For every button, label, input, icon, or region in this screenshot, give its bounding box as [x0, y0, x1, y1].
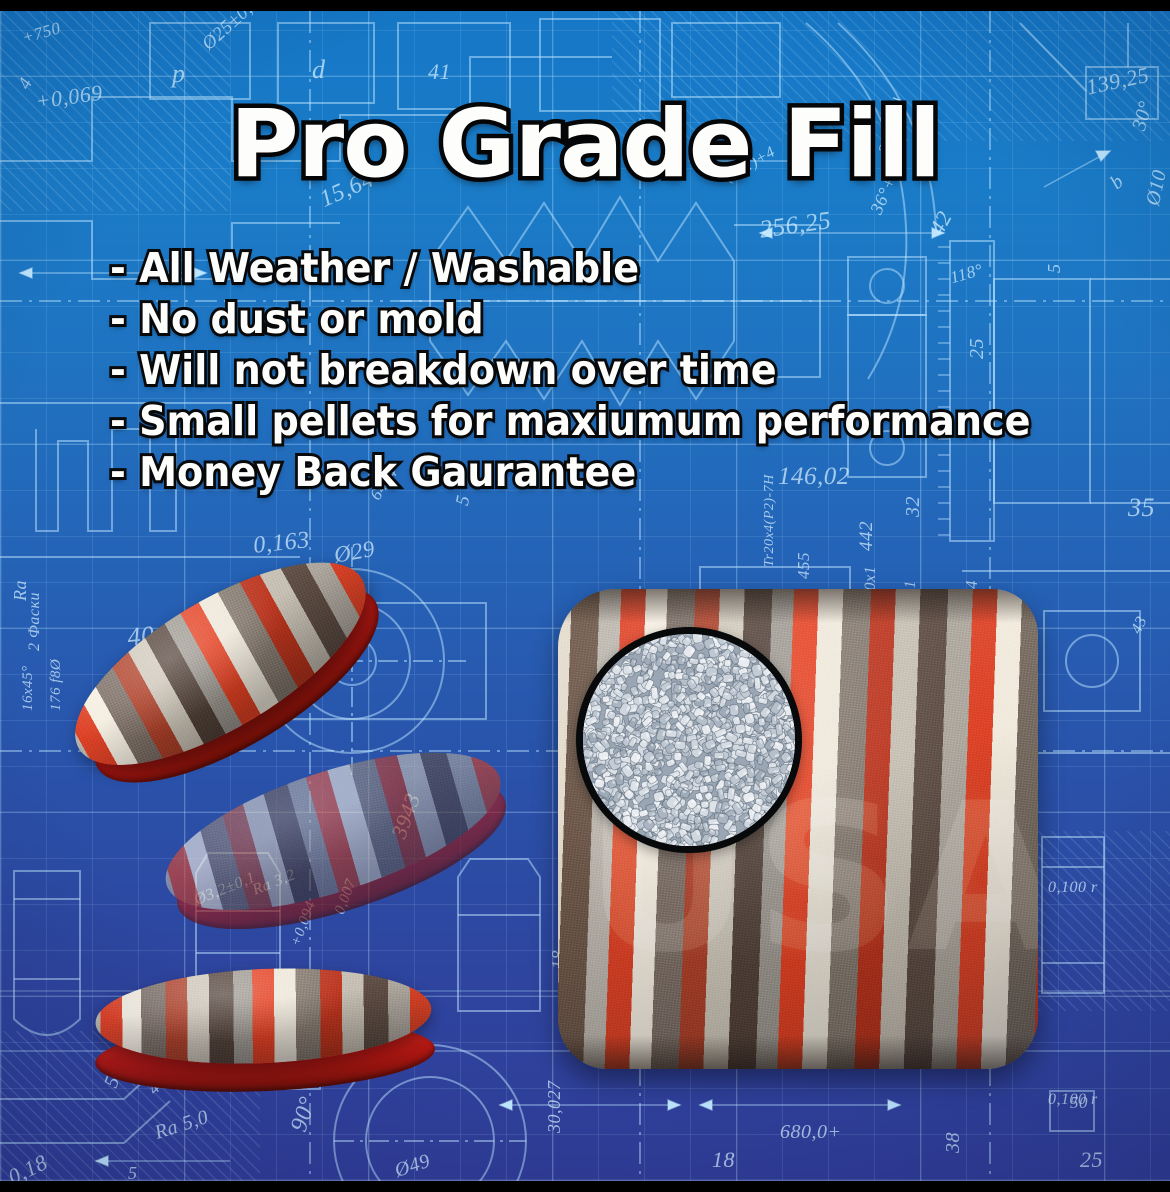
letterbox-bar-bottom — [0, 1181, 1170, 1192]
feature-item: - No dust or mold — [110, 294, 1030, 345]
plastic-pellets-fill — [583, 634, 795, 846]
feature-item: - Money Back Gaurantee — [110, 447, 1030, 498]
bag-fabric-face — [93, 962, 433, 1071]
bag-fabric-face — [46, 524, 395, 804]
blueprint-backdrop: +0,0694+750pdØ25±0,14115,64139,2530°bØ10… — [0, 11, 1170, 1181]
poster-title-area: Pro Grade Fill — [0, 97, 1170, 193]
feature-item: - All Weather / Washable — [110, 243, 1030, 294]
cornhole-bag-side-lower — [90, 962, 439, 1099]
bag-stripe-pattern — [46, 524, 395, 804]
page-title: Pro Grade Fill — [230, 97, 940, 193]
letterbox-bar-top — [0, 0, 1170, 11]
pellet-closeup-circle — [576, 627, 802, 853]
bag-stripe-pattern — [93, 962, 433, 1071]
feature-item: - Will not breakdown over time — [110, 345, 1030, 396]
feature-list: - All Weather / Washable- No dust or mol… — [110, 243, 1100, 498]
feature-item: - Small pellets for maxiumum performance — [110, 396, 1030, 447]
